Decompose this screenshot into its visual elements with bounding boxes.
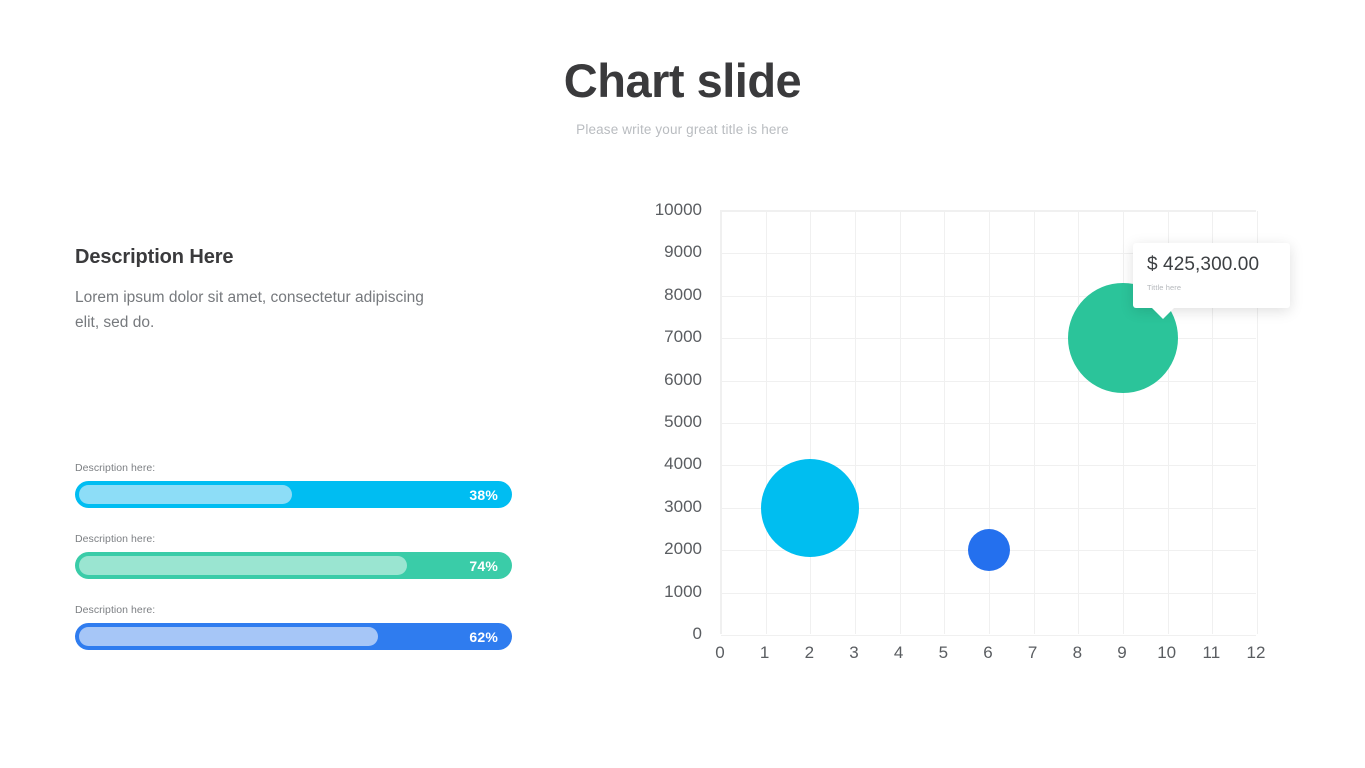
y-axis-tick-label: 7000 [628, 327, 702, 347]
page-title: Chart slide [0, 56, 1365, 105]
y-axis-tick-label: 10000 [628, 200, 702, 220]
y-axis-tick-label: 1000 [628, 582, 702, 602]
bubble-chart: 1000090008000700060005000400030002000100… [628, 195, 1288, 685]
progress-bar-label: Description here: [75, 462, 512, 474]
progress-bar-track[interactable]: 62% [75, 623, 512, 650]
tooltip-value: $ 425,300.00 [1147, 254, 1290, 276]
progress-bar-label: Description here: [75, 533, 512, 545]
x-axis-tick-label: 12 [1247, 643, 1266, 663]
y-axis-tick-label: 9000 [628, 242, 702, 262]
x-axis-tick-label: 10 [1157, 643, 1176, 663]
y-axis-tick-label: 0 [628, 624, 702, 644]
progress-bar-list: Description here:38%Description here:74%… [75, 462, 512, 650]
progress-bar-item: Description here:74% [75, 533, 512, 579]
progress-bar-fill [79, 627, 378, 646]
progress-bar-item: Description here:62% [75, 604, 512, 650]
page-subtitle: Please write your great title is here [0, 122, 1365, 137]
y-axis-tick-label: 4000 [628, 454, 702, 474]
tooltip-arrow-icon [1152, 308, 1174, 319]
y-axis-tick-label: 5000 [628, 412, 702, 432]
progress-bar-track[interactable]: 74% [75, 552, 512, 579]
slide-header: Chart slide Please write your great titl… [0, 56, 1365, 137]
gridline-horizontal [721, 423, 1256, 424]
gridline-horizontal [721, 635, 1256, 636]
bubble-blue[interactable] [968, 529, 1010, 571]
x-axis-tick-label: 6 [983, 643, 992, 663]
progress-bar-percent: 74% [469, 558, 498, 574]
x-axis-tick-label: 5 [939, 643, 948, 663]
y-axis-tick-label: 8000 [628, 285, 702, 305]
gridline-horizontal [721, 211, 1256, 212]
x-axis-tick-label: 8 [1073, 643, 1082, 663]
x-axis-tick-label: 4 [894, 643, 903, 663]
progress-bar-fill [79, 556, 407, 575]
progress-bar-item: Description here:38% [75, 462, 512, 508]
description-title: Description Here [75, 246, 545, 269]
description-panel: Description Here Lorem ipsum dolor sit a… [75, 246, 545, 336]
progress-bar-label: Description here: [75, 604, 512, 616]
progress-bar-track[interactable]: 38% [75, 481, 512, 508]
x-axis-tick-label: 3 [849, 643, 858, 663]
y-axis-tick-label: 2000 [628, 539, 702, 559]
bubble-cyan[interactable] [761, 459, 859, 557]
x-axis-tick-label: 9 [1117, 643, 1126, 663]
x-axis-tick-label: 1 [760, 643, 769, 663]
x-axis-tick-label: 2 [805, 643, 814, 663]
x-axis-tick-label: 0 [715, 643, 724, 663]
y-axis-tick-label: 3000 [628, 497, 702, 517]
y-axis-tick-label: 6000 [628, 370, 702, 390]
x-axis: 0123456789101112 [720, 643, 1256, 673]
description-body: Lorem ipsum dolor sit amet, consectetur … [75, 285, 425, 336]
tooltip-subtitle: Tittle here [1147, 283, 1290, 292]
progress-bar-fill [79, 485, 292, 504]
chart-tooltip: $ 425,300.00 Tittle here [1133, 243, 1290, 308]
progress-bar-percent: 38% [469, 487, 498, 503]
y-axis: 1000090008000700060005000400030002000100… [628, 195, 702, 635]
gridline-horizontal [721, 381, 1256, 382]
x-axis-tick-label: 11 [1203, 643, 1221, 663]
gridline-horizontal [721, 593, 1256, 594]
x-axis-tick-label: 7 [1028, 643, 1037, 663]
progress-bar-percent: 62% [469, 629, 498, 645]
